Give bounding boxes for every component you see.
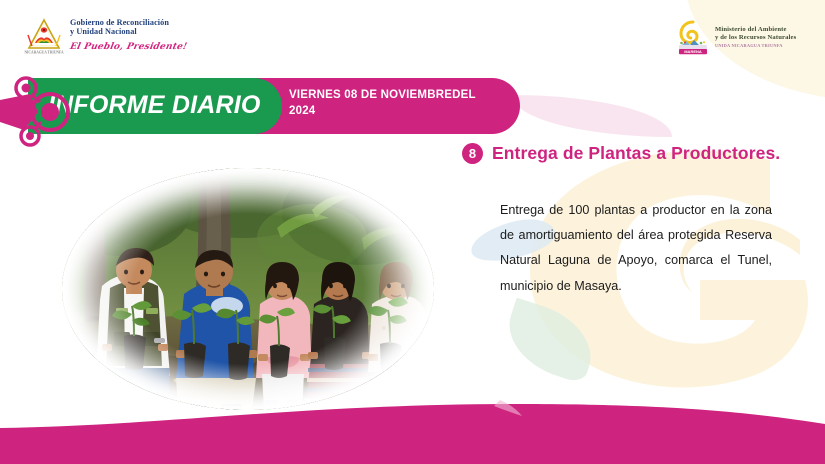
gobierno-logo: NICARAGUA TRIUNFA Gobierno de Reconcilia… — [24, 16, 187, 56]
event-photo-image — [62, 168, 434, 410]
marena-line2: y de los Recursos Naturales — [715, 34, 796, 42]
banner-date: VIERNES 08 DE NOVIEMBREDEL 2024 — [289, 88, 504, 119]
gobierno-slogan: El Pueblo, Presidente! — [69, 42, 188, 52]
nicaragua-triunfa-emblem-icon: NICARAGUA TRIUNFA — [24, 16, 64, 56]
marena-logo-text: Ministerio del Ambiente y de los Recurso… — [715, 26, 796, 47]
svg-text:MARENA: MARENA — [684, 49, 702, 54]
gobierno-line2: y Unidad Nacional — [70, 27, 187, 36]
marena-line3: UNIDA NICARAGUA TRIUNFA — [715, 43, 796, 48]
gobierno-logo-text: Gobierno de Reconciliación y Unidad Naci… — [70, 18, 187, 54]
bottom-wave-decoration — [0, 392, 825, 464]
green-leaf-shape — [498, 298, 603, 385]
marena-logo: MARENA Ministerio del Ambiente y de los … — [676, 18, 796, 56]
informe-diario-slide: NICARAGUA TRIUNFA Gobierno de Reconcilia… — [0, 0, 825, 464]
marena-line1: Ministerio del Ambiente — [715, 26, 796, 34]
section-title: Entrega de Plantas a Productores. — [492, 143, 780, 164]
marena-sun-emblem-icon: MARENA — [676, 18, 710, 56]
svg-text:NICARAGUA TRIUNFA: NICARAGUA TRIUNFA — [24, 51, 64, 55]
event-photo — [62, 168, 434, 410]
section-body-text: Entrega de 100 plantas a productor en la… — [500, 198, 772, 299]
gobierno-line1: Gobierno de Reconciliación — [70, 18, 187, 27]
section-number-badge: 8 — [462, 143, 483, 164]
section-heading: 8 Entrega de Plantas a Productores. — [462, 143, 780, 164]
molecule-decoration-icon — [0, 72, 92, 148]
